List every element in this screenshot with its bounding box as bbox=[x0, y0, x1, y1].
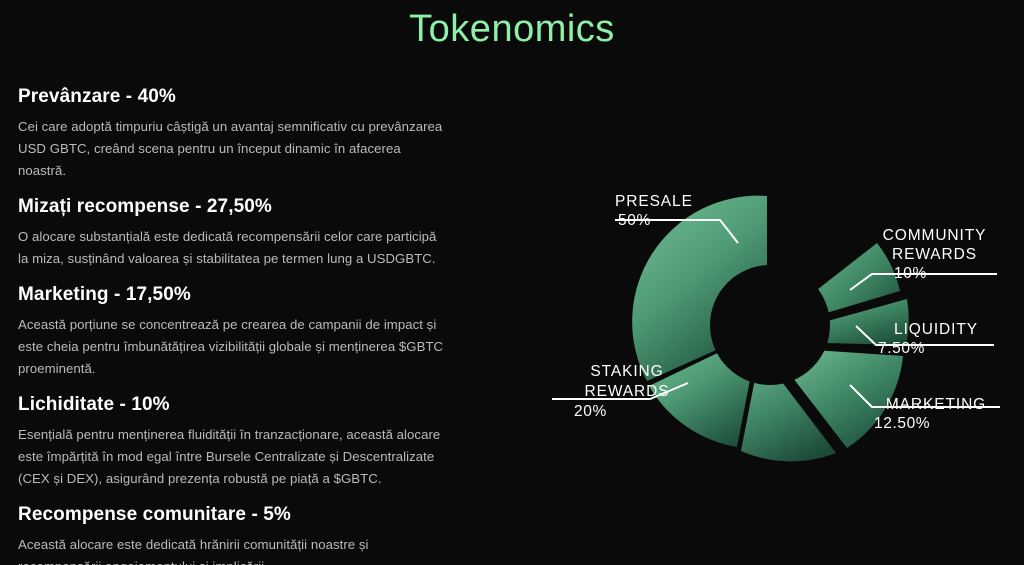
callout-value: 7.50% bbox=[876, 339, 996, 359]
callout-label: MARKETING bbox=[872, 395, 1000, 414]
allocation-heading: Prevânzare - 40% bbox=[18, 86, 448, 108]
allocation-item-liquidity: Lichiditate - 10% Esențială pentru menți… bbox=[18, 394, 448, 490]
callout-community-rewards: COMMUNITY REWARDS 10% bbox=[872, 226, 997, 284]
callout-label-line2: REWARDS bbox=[872, 245, 997, 264]
callout-staking-rewards: STAKING REWARDS 20% bbox=[552, 362, 702, 422]
callout-label: PRESALE bbox=[615, 192, 735, 211]
allocation-list: Prevânzare - 40% Cei care adoptă timpuri… bbox=[18, 86, 448, 565]
tokenomics-page: Tokenomics Prevânzare - 40% Cei care ado… bbox=[0, 0, 1024, 565]
allocation-body: Esențială pentru menținerea fluidității … bbox=[18, 424, 448, 490]
donut-hole bbox=[710, 265, 830, 385]
callout-label: LIQUIDITY bbox=[876, 320, 996, 339]
allocation-item-marketing: Marketing - 17,50% Această porțiune se c… bbox=[18, 284, 448, 380]
callout-presale: PRESALE 50% bbox=[615, 192, 735, 231]
allocation-heading: Lichiditate - 10% bbox=[18, 394, 448, 416]
tokenomics-donut-chart: PRESALE 50% STAKING REWARDS 20% COMMUNIT… bbox=[520, 170, 1024, 480]
callout-marketing: MARKETING 12.50% bbox=[872, 395, 1000, 434]
callout-value: 50% bbox=[615, 211, 735, 231]
allocation-body: Cei care adoptă timpuriu câștigă un avan… bbox=[18, 116, 448, 182]
callout-value: 10% bbox=[872, 264, 997, 284]
callout-label-line1: COMMUNITY bbox=[872, 226, 997, 245]
page-title: Tokenomics bbox=[0, 8, 1024, 51]
callout-label-line2: REWARDS bbox=[552, 382, 702, 402]
allocation-heading: Marketing - 17,50% bbox=[18, 284, 448, 306]
allocation-item-presale: Prevânzare - 40% Cei care adoptă timpuri… bbox=[18, 86, 448, 182]
callout-label-line1: STAKING bbox=[552, 362, 702, 382]
allocation-item-community-rewards: Recompense comunitare - 5% Această aloca… bbox=[18, 504, 448, 565]
callout-liquidity: LIQUIDITY 7.50% bbox=[876, 320, 996, 359]
allocation-body: Această porțiune se concentrează pe crea… bbox=[18, 314, 448, 380]
allocation-heading: Mizați recompense - 27,50% bbox=[18, 196, 448, 218]
callout-value: 12.50% bbox=[872, 414, 1000, 434]
allocation-heading: Recompense comunitare - 5% bbox=[18, 504, 448, 526]
allocation-body: O alocare substanțială este dedicată rec… bbox=[18, 226, 448, 270]
allocation-body: Această alocare este dedicată hrănirii c… bbox=[18, 534, 448, 565]
callout-value: 20% bbox=[552, 402, 702, 422]
allocation-item-staking-rewards: Mizați recompense - 27,50% O alocare sub… bbox=[18, 196, 448, 270]
